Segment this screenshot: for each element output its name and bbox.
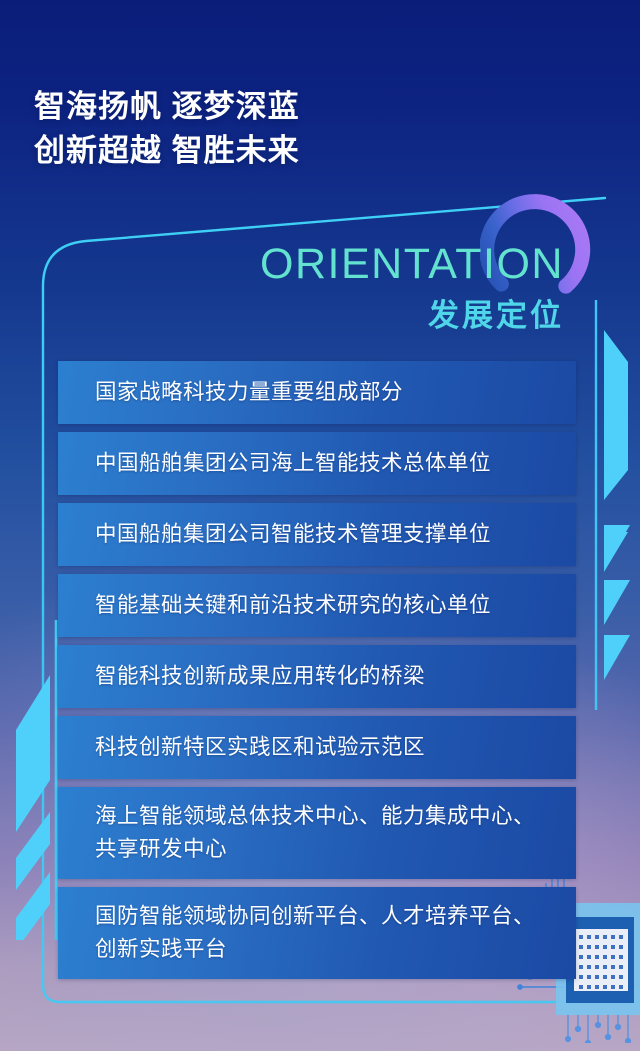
orientation-list: 国家战略科技力量重要组成部分 中国船舶集团公司海上智能技术总体单位 中国船舶集团… [58, 361, 576, 987]
list-item[interactable]: 中国船舶集团公司智能技术管理支撑单位 [58, 503, 576, 566]
section-title-english: ORIENTATION [260, 243, 564, 286]
list-item[interactable]: 中国船舶集团公司海上智能技术总体单位 [58, 432, 576, 495]
list-item[interactable]: 智能科技创新成果应用转化的桥梁 [58, 645, 576, 708]
list-item-label: 海上智能领域总体技术中心、能力集成中心、 共享研发中心 [58, 800, 549, 866]
headline-block: 智海扬帆 逐梦深蓝 创新超越 智胜未来 [34, 85, 300, 173]
list-item-label: 智能基础关键和前沿技术研究的核心单位 [58, 589, 505, 622]
poster-canvas: 智海扬帆 逐梦深蓝 创新超越 智胜未来 [0, 0, 640, 1051]
list-item-label: 国家战略科技力量重要组成部分 [58, 376, 417, 409]
list-item-label: 科技创新特区实践区和试验示范区 [58, 731, 439, 764]
list-item-label: 国防智能领域协同创新平台、人才培养平台、 创新实践平台 [58, 900, 549, 966]
list-item-label: 中国船舶集团公司智能技术管理支撑单位 [58, 518, 505, 551]
list-item-label: 智能科技创新成果应用转化的桥梁 [58, 660, 439, 693]
list-item[interactable]: 国家战略科技力量重要组成部分 [58, 361, 576, 424]
list-item[interactable]: 智能基础关键和前沿技术研究的核心单位 [58, 574, 576, 637]
headline-line-2: 创新超越 智胜未来 [34, 129, 300, 173]
list-item[interactable]: 科技创新特区实践区和试验示范区 [58, 716, 576, 779]
list-item-label: 中国船舶集团公司海上智能技术总体单位 [58, 447, 505, 480]
right-chevron-decoration [570, 300, 640, 725]
headline-line-1: 智海扬帆 逐梦深蓝 [34, 85, 300, 129]
list-item[interactable]: 海上智能领域总体技术中心、能力集成中心、 共享研发中心 [58, 787, 576, 879]
list-item[interactable]: 国防智能领域协同创新平台、人才培养平台、 创新实践平台 [58, 887, 576, 979]
section-title-chinese: 发展定位 [428, 300, 564, 331]
